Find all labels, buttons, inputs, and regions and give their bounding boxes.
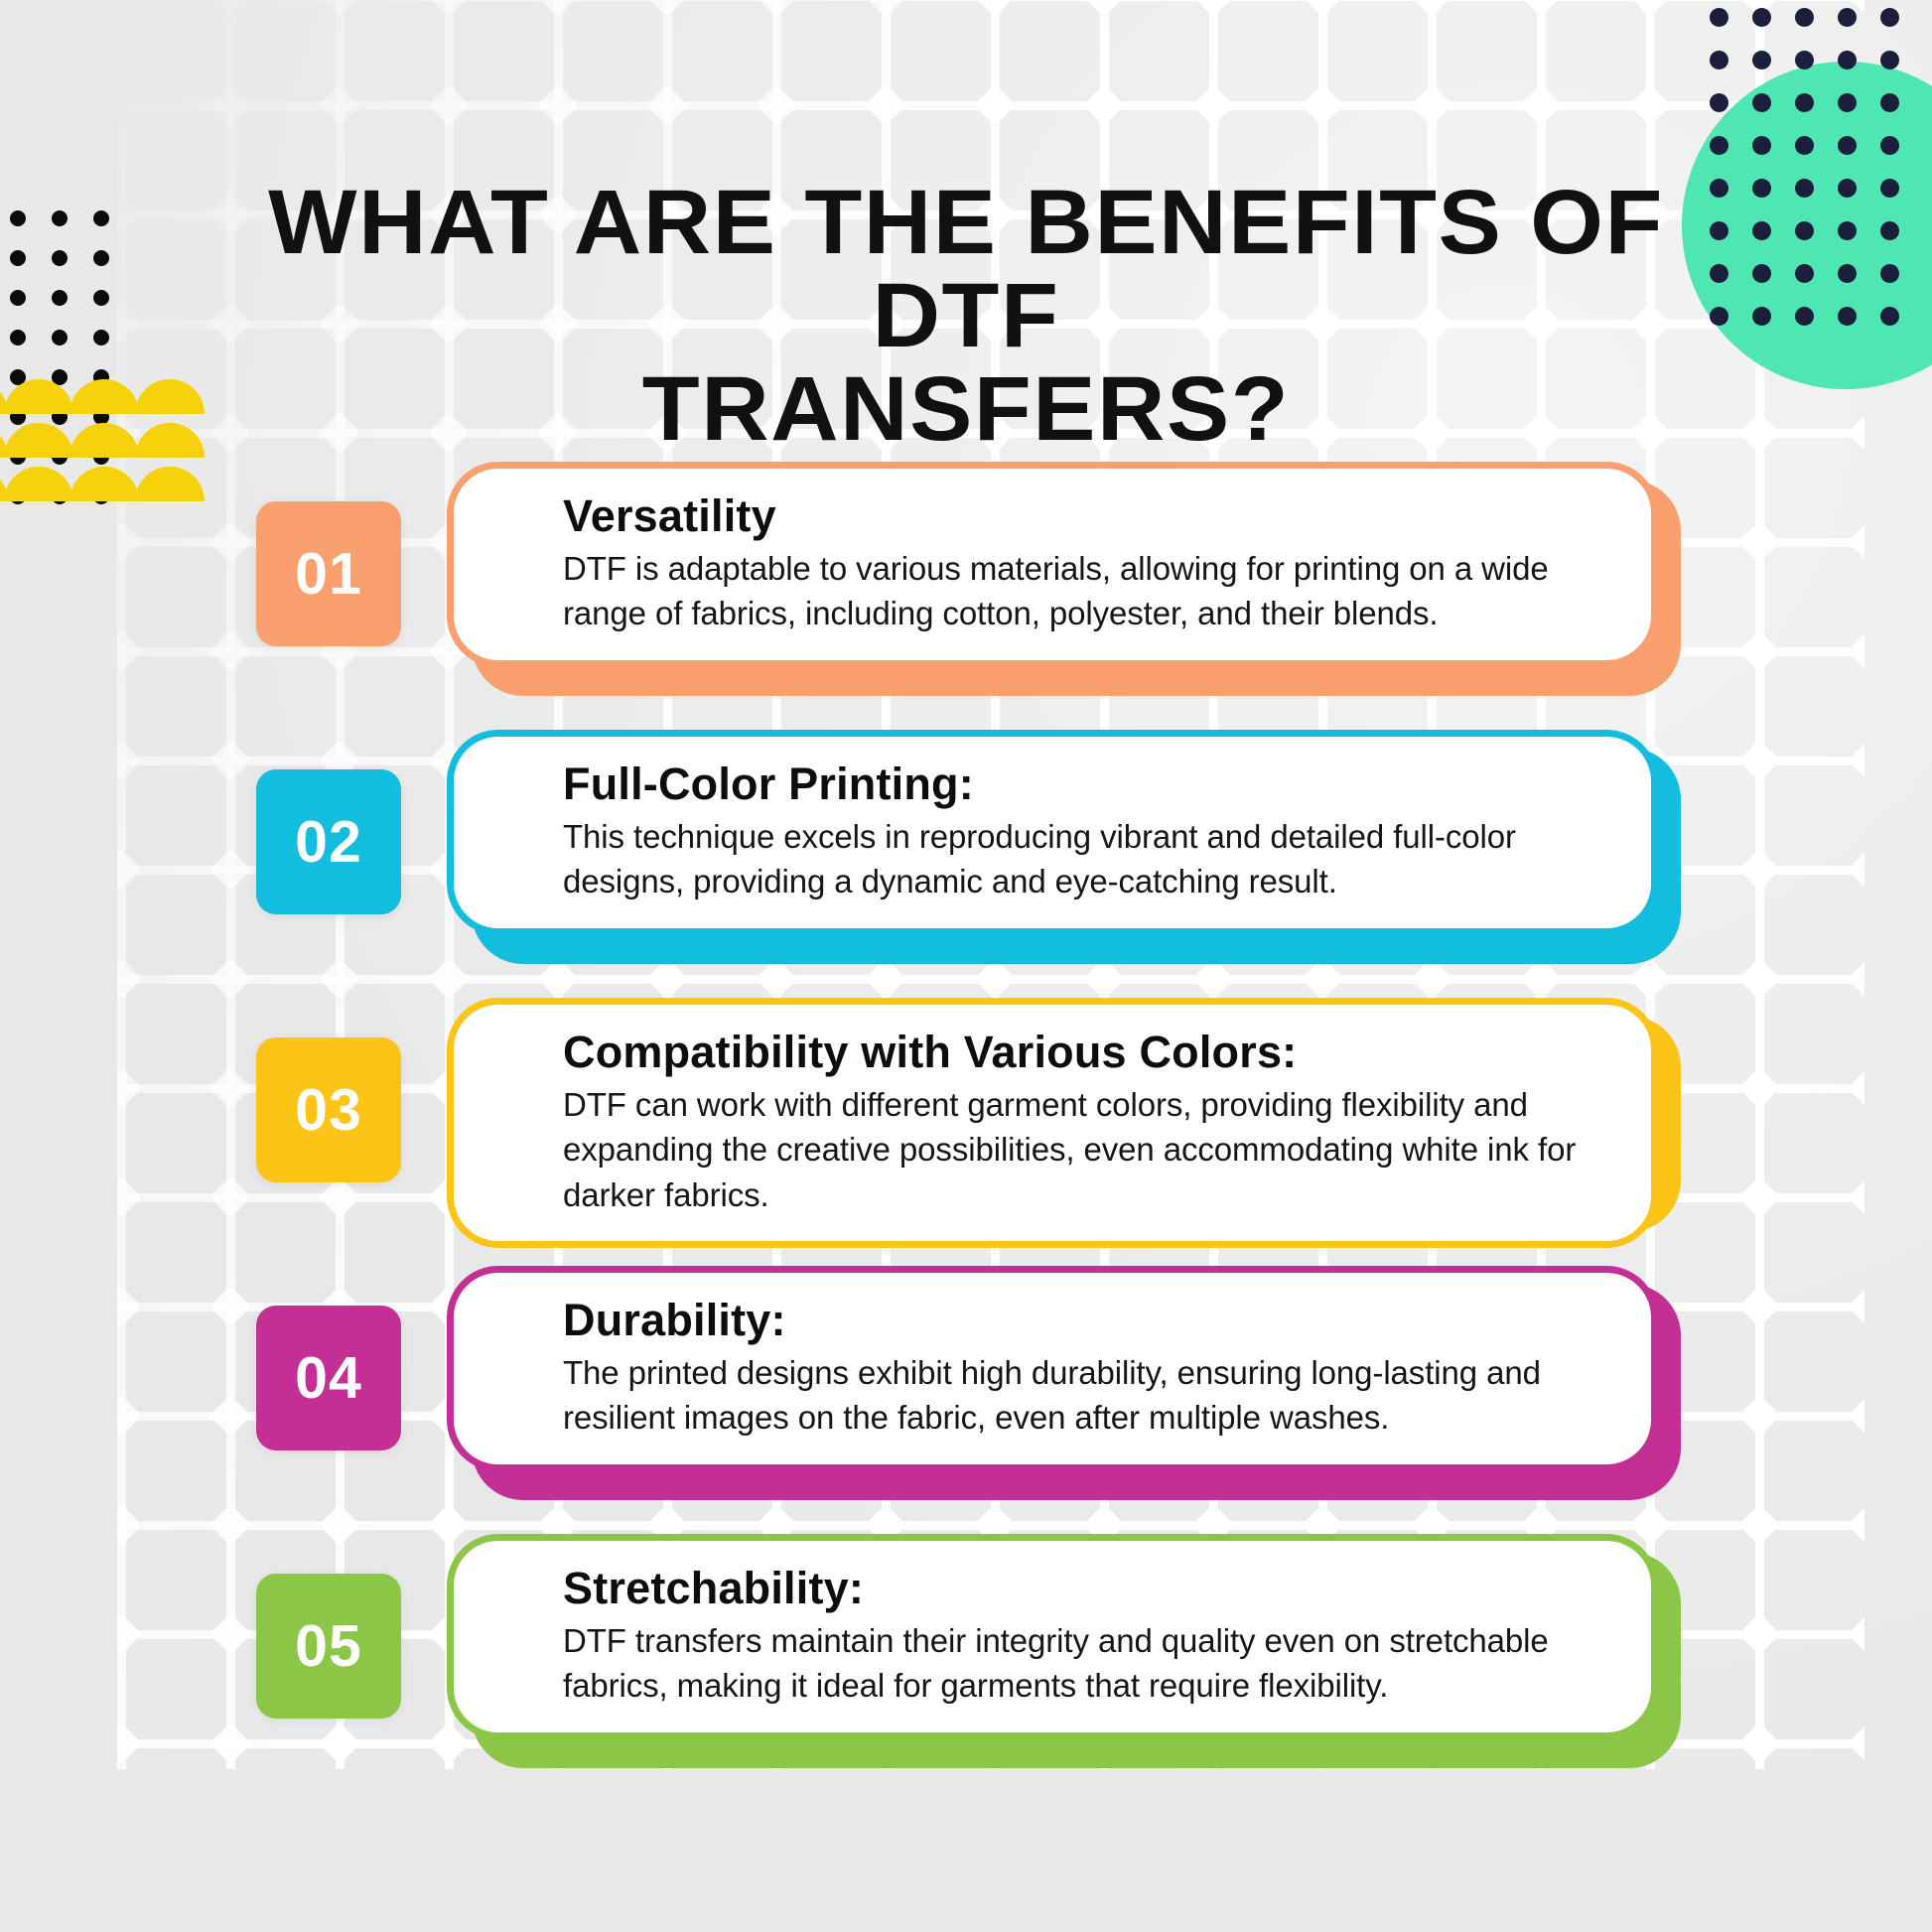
infographic-canvas: WHAT ARE THE BENEFITS OF DTF TRANSFERS? … [0,0,1932,1932]
grid-diamond [100,84,142,126]
decorative-dot [93,330,109,345]
benefit-number: 05 [295,1612,362,1680]
decorative-dot [93,290,109,306]
grid-diamond [974,84,1016,126]
benefit-body: DTF can work with different garment colo… [563,1082,1605,1218]
grid-diamond [1411,0,1452,17]
grid-diamond [1411,84,1452,126]
grid-diamond [1302,0,1343,17]
grid-diamond [209,84,251,126]
decorative-dot [10,210,26,226]
decorative-dot [1752,307,1771,326]
benefit-card[interactable]: Compatibility with Various Colors:DTF ca… [447,998,1658,1248]
decorative-dot [1880,221,1899,240]
decorative-dot [1838,221,1857,240]
decorative-dot [52,290,68,306]
benefit-body: DTF transfers maintain their integrity a… [563,1618,1605,1709]
benefit-row: 01VersatilityDTF is adaptable to various… [0,452,1932,720]
benefit-number-badge: 03 [256,1037,401,1182]
benefit-card[interactable]: Full-Color Printing:This technique excel… [447,730,1658,935]
benefit-row: 02Full-Color Printing:This technique exc… [0,720,1932,988]
decorative-dot [1838,179,1857,198]
benefits-list: 01VersatilityDTF is adaptable to various… [0,452,1932,1792]
decorative-dot [10,290,26,306]
decorative-dot [1838,8,1857,27]
grid-diamond [1192,0,1234,17]
decorative-dot [1838,93,1857,112]
benefit-card[interactable]: Durability:The printed designs exhibit h… [447,1266,1658,1471]
decorative-dot [1752,179,1771,198]
grid-diamond [974,0,1016,17]
benefit-card[interactable]: Stretchability:DTF transfers maintain th… [447,1534,1658,1739]
decorative-dot [1880,179,1899,198]
grid-diamond [319,0,360,17]
grid-diamond [428,84,470,126]
decorative-dot [1795,136,1814,155]
grid-diamond [1520,84,1562,126]
grid-diamond [209,0,251,17]
decorative-dot [1710,51,1728,69]
decorative-dot [1880,136,1899,155]
benefit-number-badge: 01 [256,501,401,646]
benefit-body: DTF is adaptable to various materials, a… [563,546,1605,636]
grid-diamond [100,0,142,17]
benefit-card[interactable]: VersatilityDTF is adaptable to various m… [447,462,1658,667]
benefit-number: 02 [295,808,362,876]
benefit-row: 03Compatibility with Various Colors:DTF … [0,988,1932,1256]
grid-diamond [865,84,906,126]
grid-diamond [537,84,579,126]
decorative-dot [93,250,109,266]
decorative-dot [1795,221,1814,240]
decorative-dot [1838,307,1857,326]
decorative-dot [52,250,68,266]
benefit-number: 01 [295,540,362,608]
decorative-dot [1795,264,1814,283]
benefit-heading: Versatility [563,490,1605,542]
benefit-row: 05Stretchability:DTF transfers maintain … [0,1524,1932,1792]
grid-diamond [756,84,797,126]
grid-diamond [537,0,579,17]
decorative-dot [1838,136,1857,155]
decorative-dot [1880,51,1899,69]
decorative-dot [52,330,68,345]
grid-diamond [1629,0,1671,17]
benefit-heading: Durability: [563,1295,1605,1346]
benefit-body: This technique excels in reproducing vib… [563,814,1605,904]
decorative-dot [1795,8,1814,27]
decorative-dot [1838,51,1857,69]
benefit-number-badge: 05 [256,1574,401,1719]
decorative-dot [93,210,109,226]
decorative-dot [1752,51,1771,69]
decorative-dot [1795,51,1814,69]
decorative-dot [1752,221,1771,240]
grid-diamond [865,0,906,17]
navy-dot-grid-decoration [1710,0,1928,234]
decorative-dot [1795,307,1814,326]
grid-diamond [1083,0,1125,17]
grid-diamond [646,0,688,17]
decorative-dot [1710,136,1728,155]
decorative-dot [1752,8,1771,27]
decorative-dot [1752,264,1771,283]
grid-diamond [428,0,470,17]
benefit-number-badge: 04 [256,1306,401,1450]
decorative-dot [1880,8,1899,27]
decorative-dot [1880,307,1899,326]
yellow-half-circle [69,379,139,414]
grid-diamond [1848,412,1889,454]
decorative-dot [1880,264,1899,283]
benefit-body: The printed designs exhibit high durabil… [563,1350,1605,1441]
grid-diamond [1520,0,1562,17]
benefit-number: 03 [295,1076,362,1144]
decorative-dot [1795,179,1814,198]
page-title: WHAT ARE THE BENEFITS OF DTF TRANSFERS? [214,177,1718,456]
grid-diamond [646,84,688,126]
benefit-heading: Stretchability: [563,1563,1605,1614]
decorative-dot [10,330,26,345]
decorative-dot [52,210,68,226]
grid-diamond [1738,412,1780,454]
decorative-dot [1752,93,1771,112]
benefit-heading: Full-Color Printing: [563,759,1605,810]
benefit-number: 04 [295,1344,362,1412]
grid-diamond [319,84,360,126]
halfcircle-row [0,379,167,423]
yellow-half-circle [4,379,73,414]
decorative-dot [1752,136,1771,155]
grid-diamond [1192,84,1234,126]
decorative-dot [10,250,26,266]
benefit-row: 04Durability:The printed designs exhibit… [0,1256,1932,1524]
benefit-heading: Compatibility with Various Colors: [563,1027,1605,1078]
decorative-dot [1880,93,1899,112]
decorative-dot [1710,93,1728,112]
decorative-dot [1838,264,1857,283]
grid-diamond [1083,84,1125,126]
decorative-dot [1710,8,1728,27]
grid-diamond [756,0,797,17]
grid-diamond [1629,84,1671,126]
benefit-number-badge: 02 [256,769,401,914]
decorative-dot [1795,93,1814,112]
grid-diamond [1302,84,1343,126]
